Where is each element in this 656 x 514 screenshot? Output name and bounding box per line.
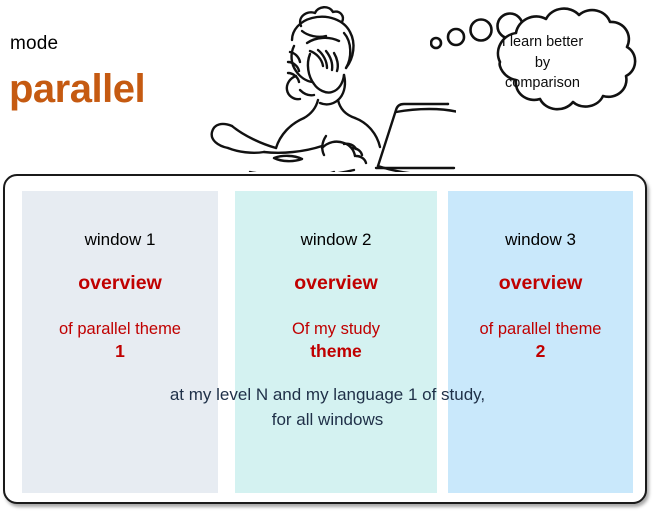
window-3-theme-text: of parallel theme <box>480 320 602 338</box>
window-3-theme: of parallel theme 2 <box>448 319 633 363</box>
mode-label: mode <box>10 34 58 53</box>
window-2-theme-text: Of my study <box>292 320 380 338</box>
window-2-label: window 2 <box>235 231 437 248</box>
window-1-theme-text: of parallel theme <box>59 320 181 338</box>
window-panel-1[interactable]: window 1 overview of parallel theme 1 <box>22 191 218 493</box>
window-panel-3[interactable]: window 3 overview of parallel theme 2 <box>448 191 633 493</box>
window-3-theme-number: 2 <box>448 341 633 363</box>
thought-line-2: by <box>470 53 615 74</box>
person-studying-at-laptop-illustration <box>206 0 456 172</box>
window-1-overview: overview <box>22 274 218 294</box>
window-1-theme: of parallel theme 1 <box>22 319 218 363</box>
window-2-theme-number: theme <box>235 341 437 363</box>
window-2-overview: overview <box>235 274 437 294</box>
window-1-label: window 1 <box>22 231 218 248</box>
mode-value: parallel <box>9 68 145 110</box>
window-1-theme-number: 1 <box>22 341 218 363</box>
window-2-theme: Of my study theme <box>235 319 437 363</box>
thought-bubble-text: I learn better by comparison <box>470 32 615 94</box>
window-3-label: window 3 <box>448 231 633 248</box>
windows-container: window 1 overview of parallel theme 1 wi… <box>3 174 647 504</box>
thought-line-3: comparison <box>470 73 615 94</box>
window-panel-2[interactable]: window 2 overview Of my study theme <box>235 191 437 493</box>
header: mode parallel <box>0 0 656 172</box>
thought-line-1: I learn better <box>470 32 615 53</box>
window-3-overview: overview <box>448 274 633 294</box>
